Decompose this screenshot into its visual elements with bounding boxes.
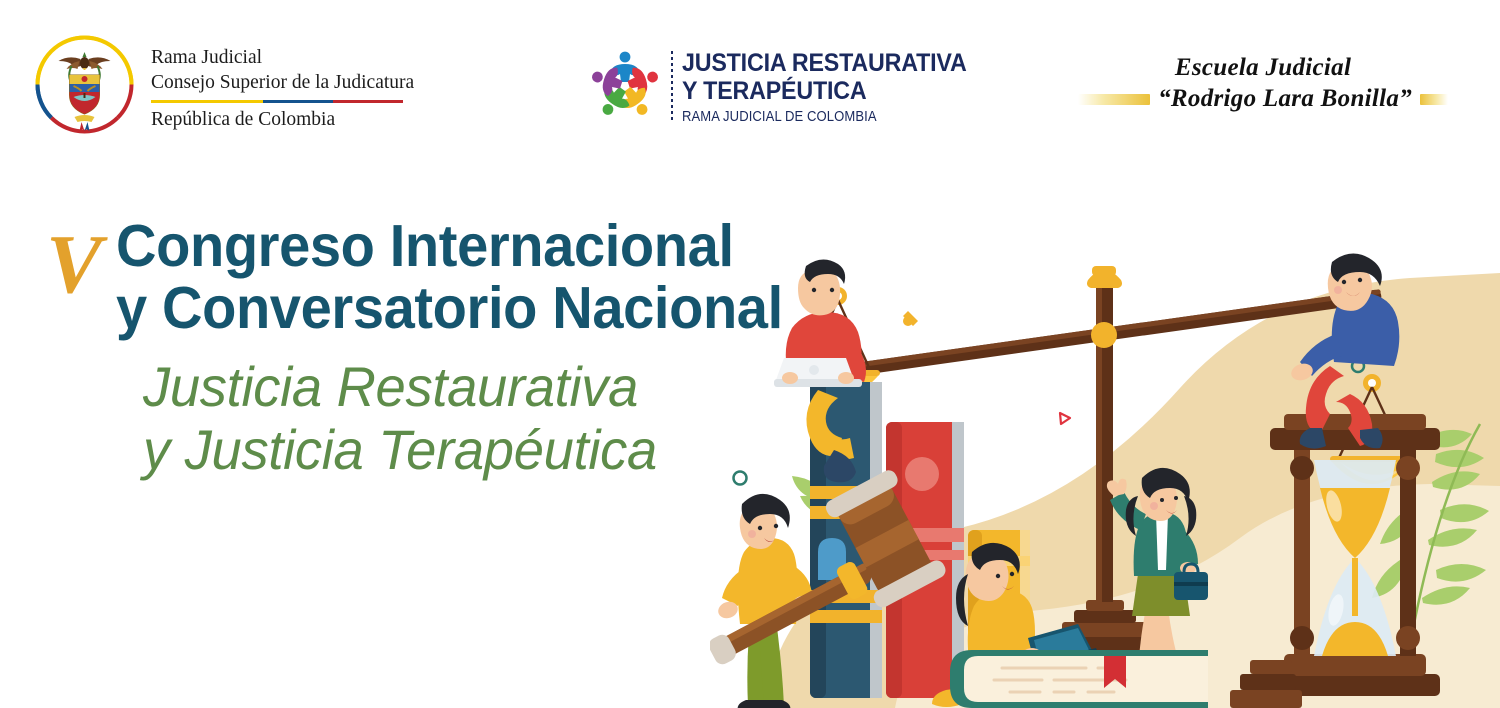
justice-scene-illustration	[710, 238, 1500, 708]
jr-title-line2: Y TERAPÉUTICA	[682, 77, 967, 105]
escuela-judicial-line1: Escuela Judicial	[1078, 54, 1448, 82]
rama-judicial-line3: República de Colombia	[151, 109, 414, 131]
jr-title-line1: JUSTICIA RESTAURATIVA	[682, 49, 967, 77]
event-title-block: V Congreso Internacional y Conversatorio…	[46, 216, 818, 481]
main-title-line2: y Conversatorio Nacional	[116, 278, 783, 340]
main-title: Congreso Internacional y Conversatorio N…	[116, 216, 783, 340]
red-triangle-icon	[1060, 413, 1070, 424]
gold-bar-right	[1420, 94, 1448, 105]
logo-justicia-restaurativa: JUSTICIA RESTAURATIVA Y TERAPÉUTICA RAMA…	[588, 48, 988, 125]
subtitle-line1: Justicia Restaurativa	[143, 355, 638, 418]
header-logo-bar: Rama Judicial Consejo Superior de la Jud…	[0, 0, 1500, 160]
poster-canvas: Rama Judicial Consejo Superior de la Jud…	[0, 0, 1500, 708]
main-title-line1: Congreso Internacional	[116, 213, 734, 279]
justicia-restaurativa-text: JUSTICIA RESTAURATIVA Y TERAPÉUTICA RAMA…	[682, 48, 988, 125]
logo-escuela-judicial: Escuela Judicial “Rodrigo Lara Bonilla”	[1078, 54, 1448, 113]
colombia-coat-of-arms-seal-icon	[33, 33, 136, 136]
rama-judicial-text: Rama Judicial Consejo Superior de la Jud…	[151, 38, 414, 132]
gold-bar-left	[1078, 94, 1150, 105]
subtitle: Justicia Restaurativa y Justicia Terapéu…	[143, 356, 798, 481]
jr-subtitle: RAMA JUDICIAL DE COLOMBIA	[682, 109, 957, 125]
dotted-divider	[671, 51, 673, 123]
flag-rule-divider	[151, 100, 403, 103]
rama-judicial-line1: Rama Judicial	[151, 46, 414, 71]
subtitle-line2: y Justicia Terapéutica	[143, 419, 798, 482]
horizontal-book-teal	[950, 650, 1208, 708]
gold-sparkle-icon	[903, 311, 918, 326]
escuela-judicial-line2: “Rodrigo Lara Bonilla”	[1158, 85, 1412, 113]
rama-judicial-line2: Consejo Superior de la Judicatura	[151, 71, 414, 96]
logo-rama-judicial: Rama Judicial Consejo Superior de la Jud…	[33, 33, 414, 136]
roman-numeral-v: V	[46, 226, 102, 303]
people-circle-logo-icon	[588, 48, 662, 124]
